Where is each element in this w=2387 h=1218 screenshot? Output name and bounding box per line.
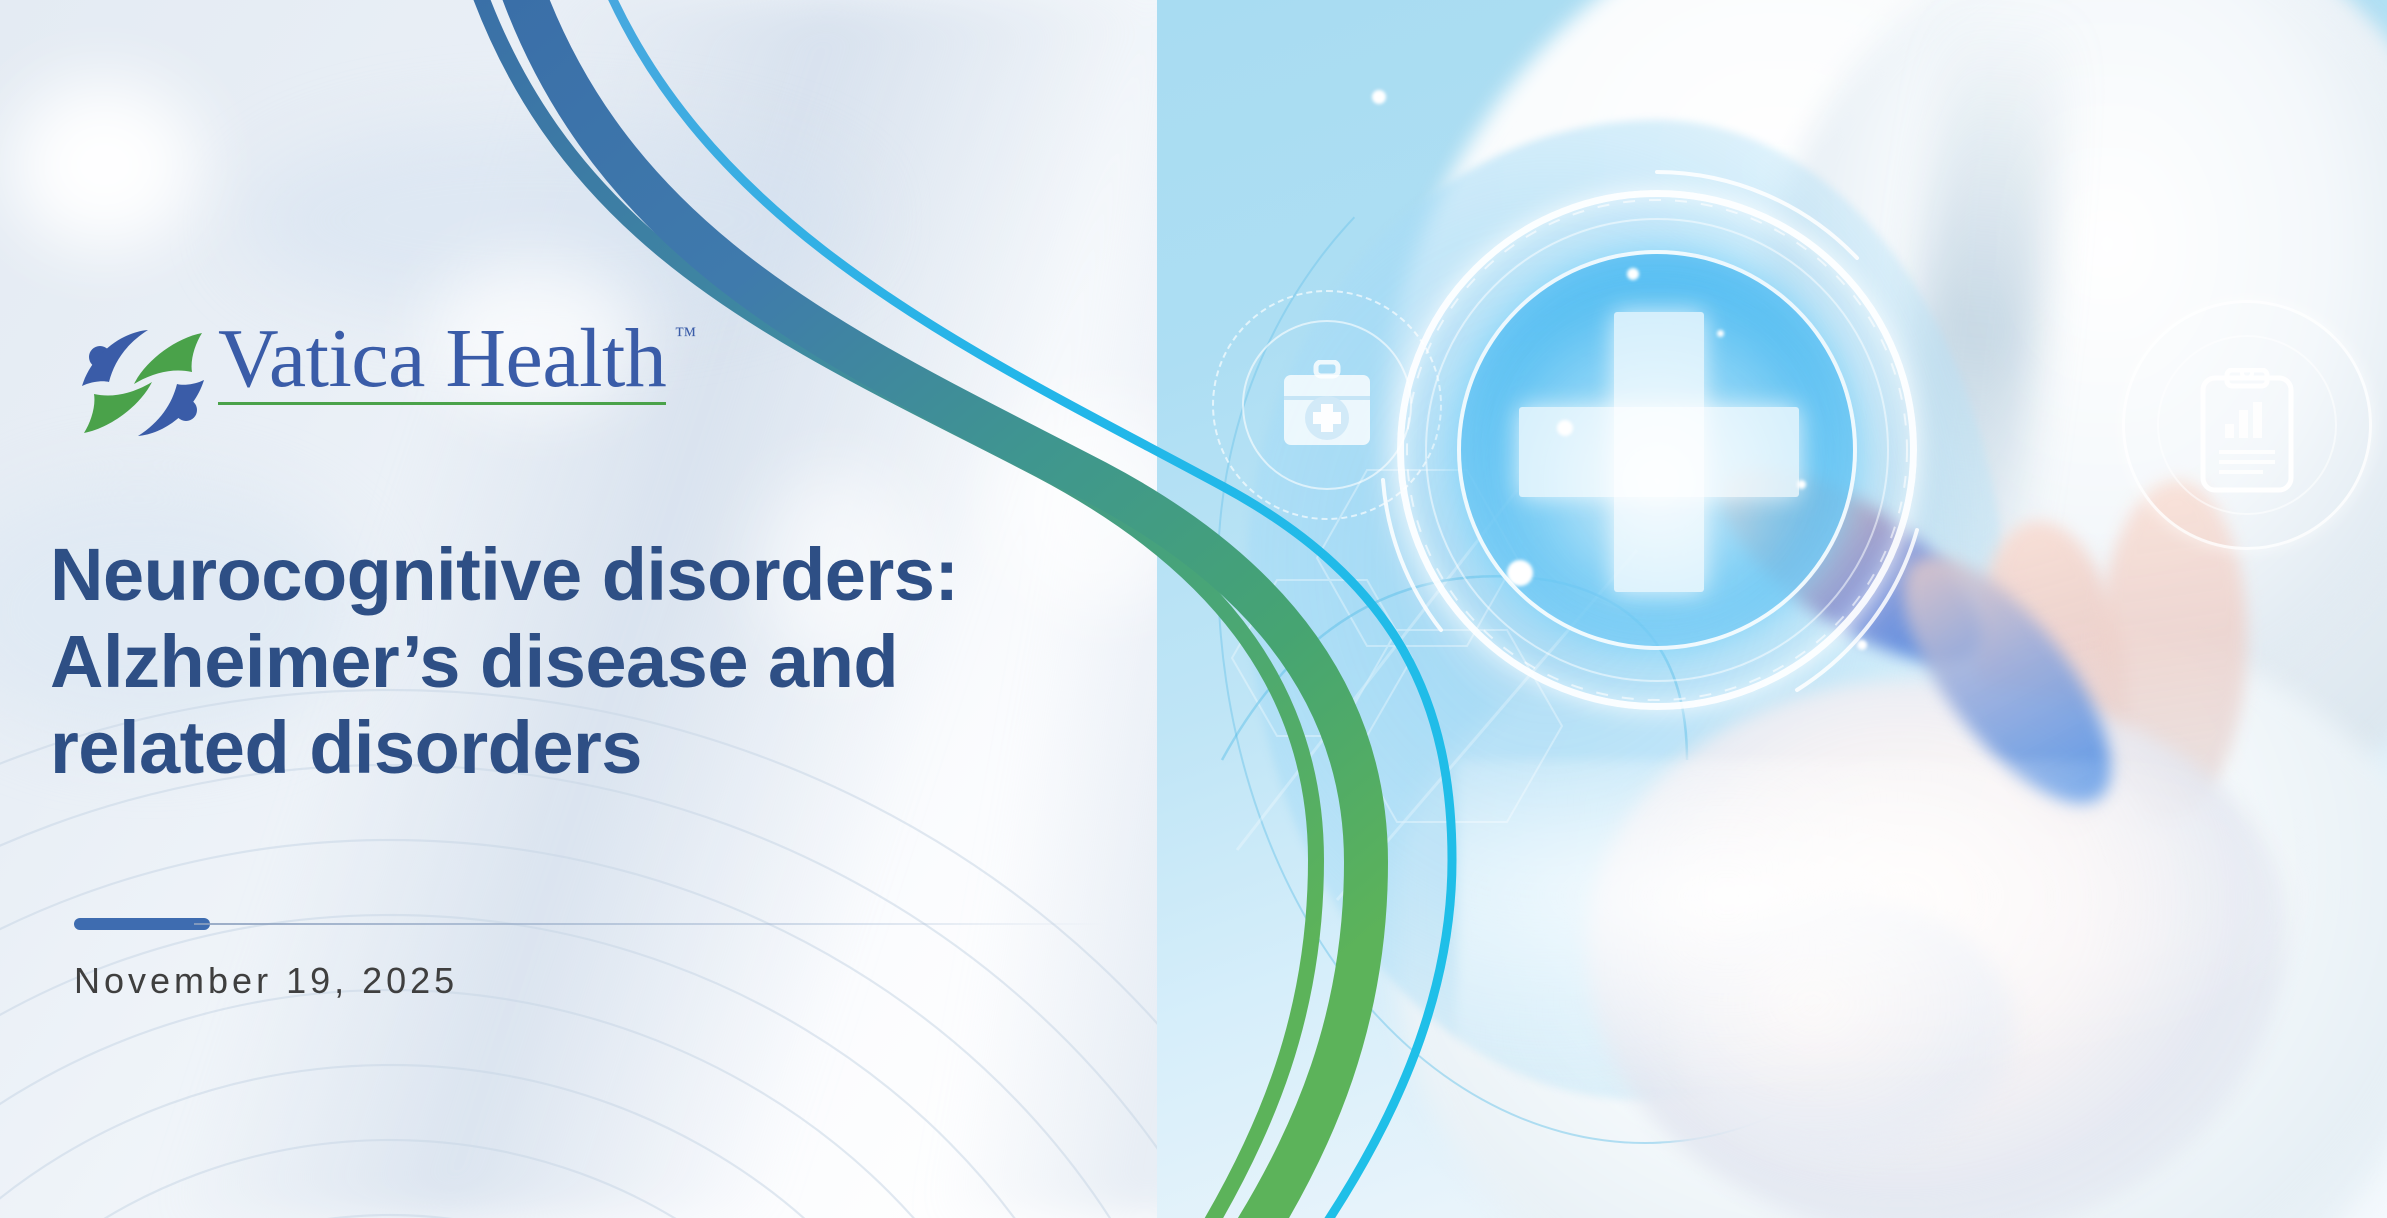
sparkle bbox=[1372, 90, 1386, 104]
brand-wordmark: Vatica Health ™ bbox=[218, 318, 666, 405]
page-title: Neurocognitive disorders: Alzheimer’s di… bbox=[50, 532, 1090, 792]
sparkle bbox=[1507, 560, 1533, 586]
sparkle bbox=[1797, 480, 1806, 489]
sparkle bbox=[1717, 330, 1724, 337]
clipboard-chart-icon bbox=[2197, 368, 2297, 496]
brand-logo[interactable]: Vatica Health ™ bbox=[76, 318, 666, 442]
title-line-1: Neurocognitive disorders: bbox=[50, 532, 1090, 619]
title-divider bbox=[74, 918, 1074, 930]
title-line-2: Alzheimer’s disease and bbox=[50, 619, 1090, 706]
presentation-date: November 19, 2025 bbox=[74, 960, 458, 1002]
brand-name: Vatica Health bbox=[218, 318, 666, 400]
sparkle bbox=[1557, 420, 1573, 436]
hud-tick-arcs bbox=[1357, 150, 1957, 750]
divider-hairline bbox=[194, 923, 1104, 925]
four-people-pinwheel-icon bbox=[76, 324, 210, 442]
doctor-hand-photo bbox=[1157, 0, 2387, 1218]
divider-accent-bar bbox=[74, 918, 210, 930]
sparkle bbox=[1277, 640, 1297, 660]
sparkle bbox=[1627, 268, 1639, 280]
title-slide: Vatica Health ™ Neurocognitive disorders… bbox=[0, 0, 2387, 1218]
sparkle bbox=[1857, 640, 1867, 650]
trademark-symbol: ™ bbox=[675, 322, 697, 348]
light-glow bbox=[1457, 760, 2357, 1100]
title-line-3: related disorders bbox=[50, 705, 1090, 792]
slide-content: Vatica Health ™ Neurocognitive disorders… bbox=[0, 0, 1150, 1218]
